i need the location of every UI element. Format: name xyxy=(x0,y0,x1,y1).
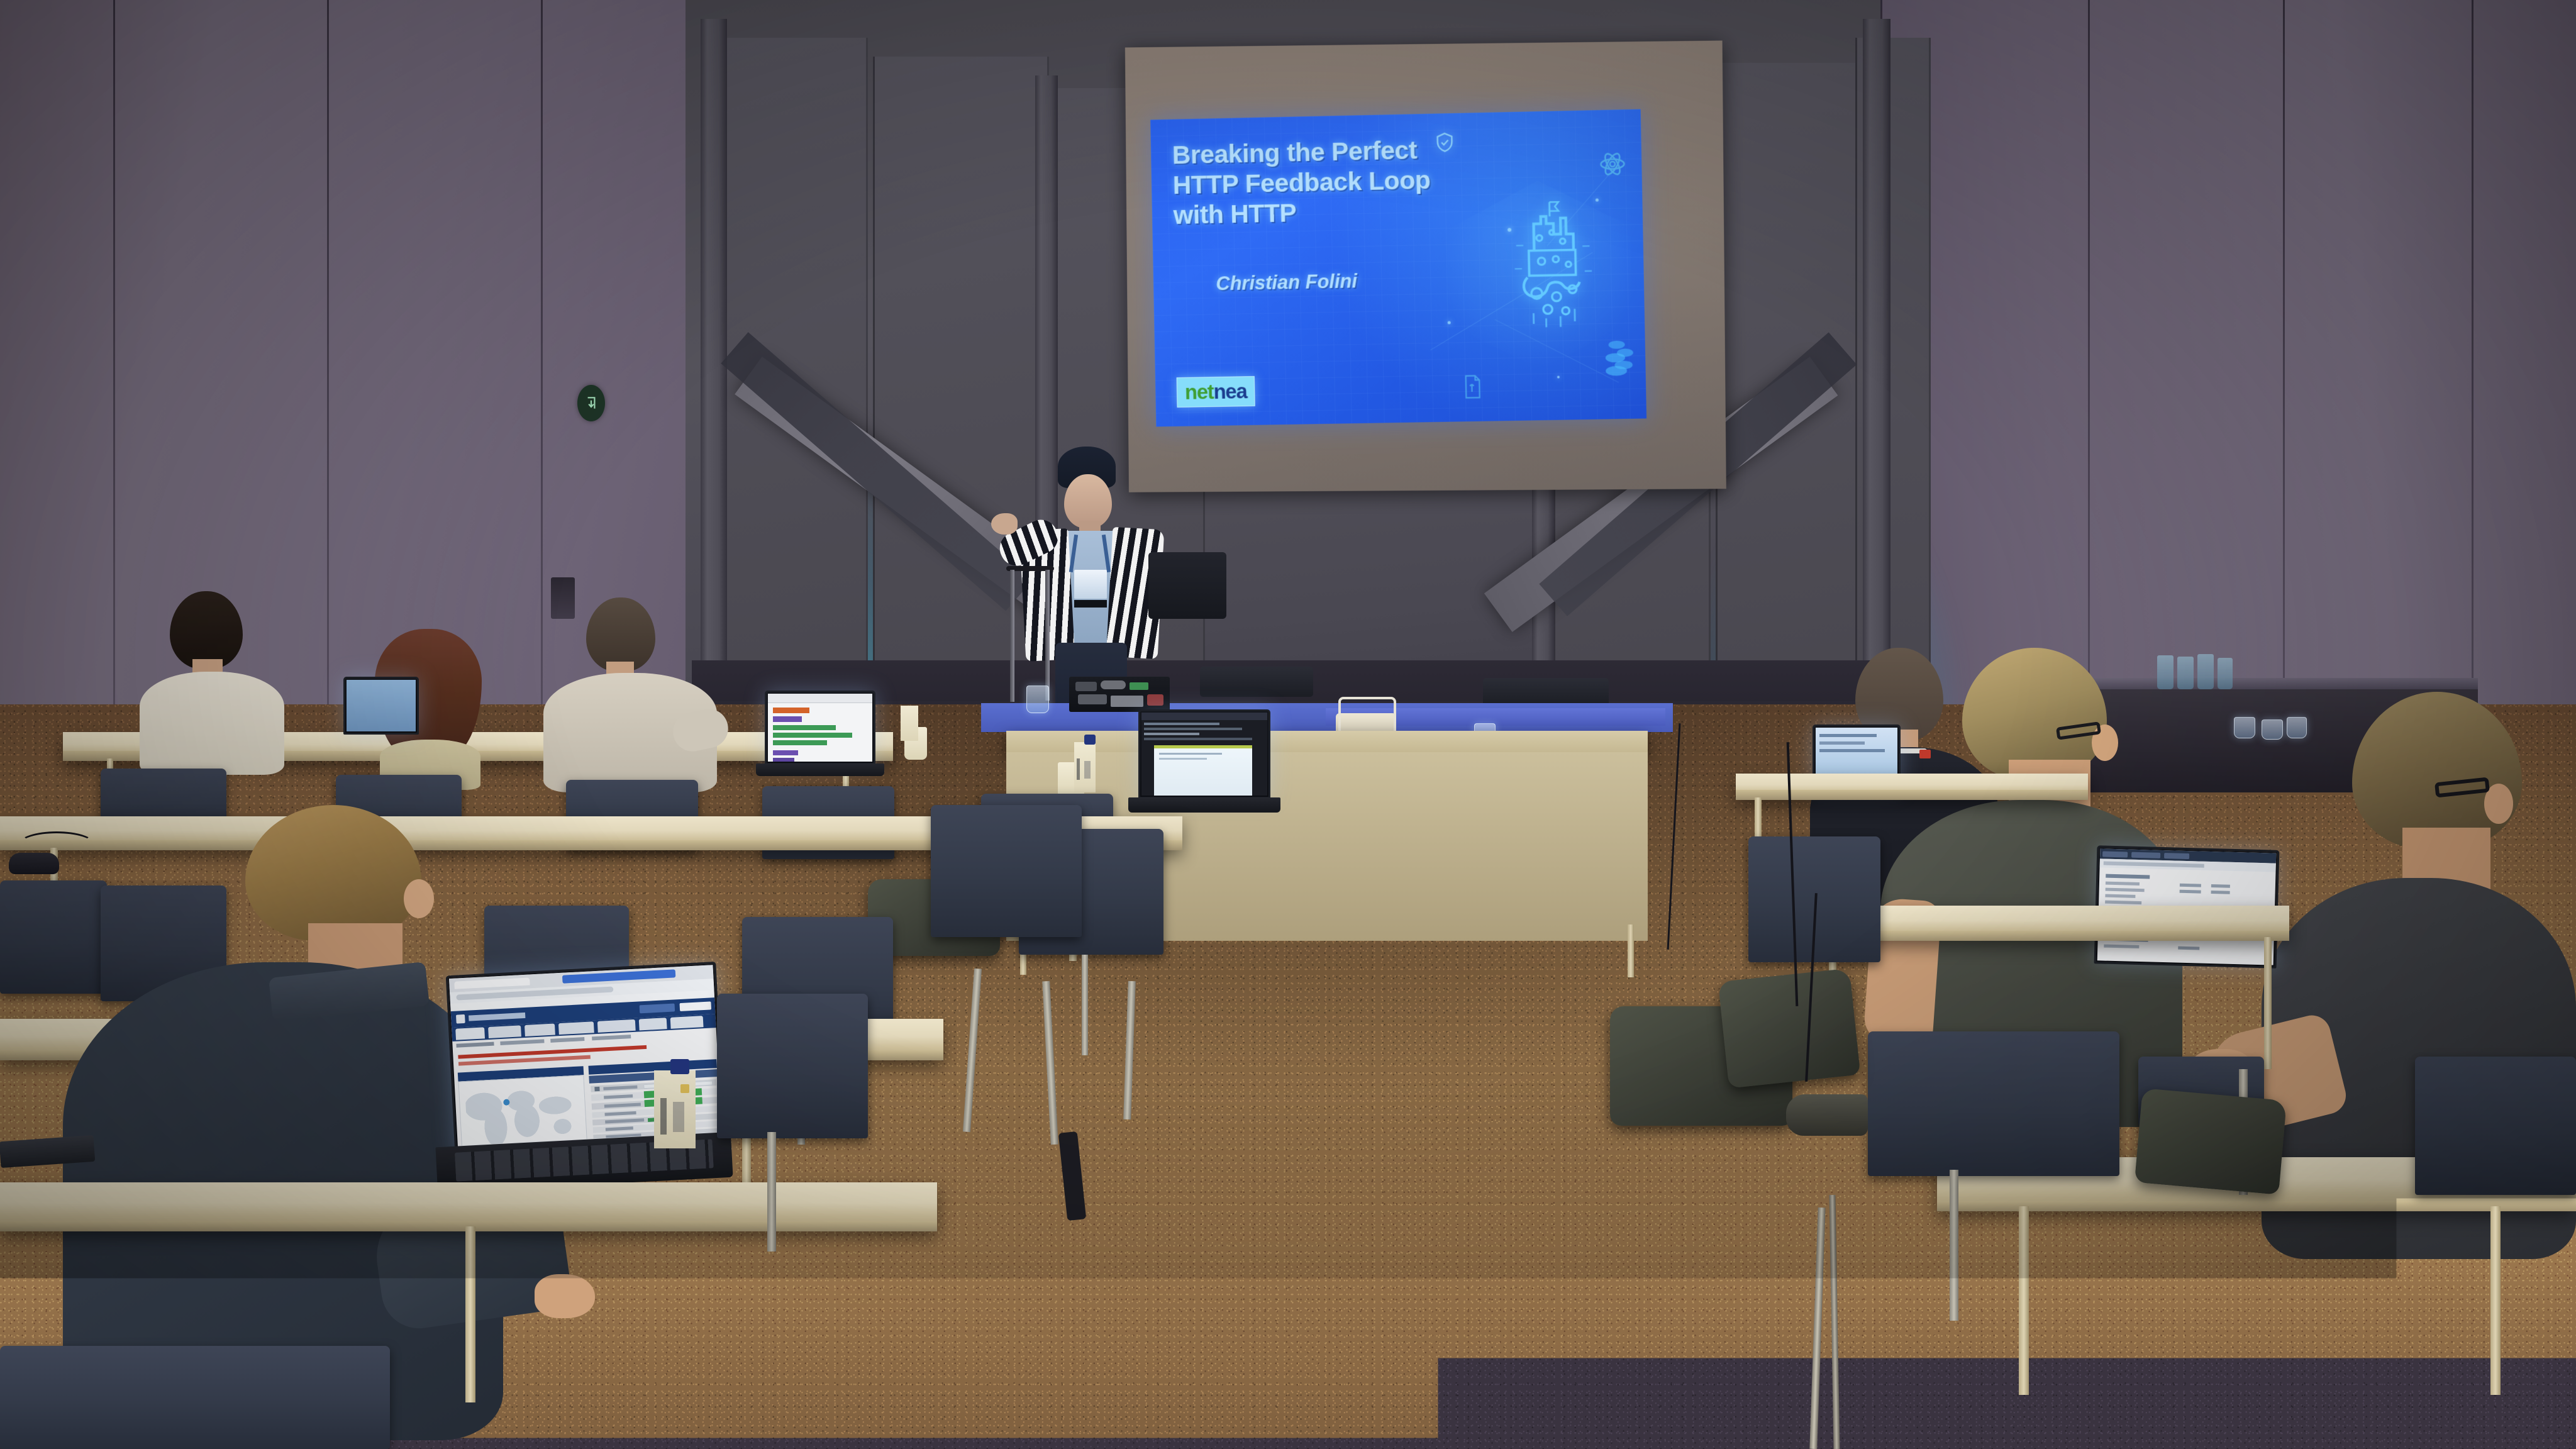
coins-icon xyxy=(1602,338,1637,377)
back-left-laptop-ui xyxy=(768,694,872,762)
water-bottle-4[interactable] xyxy=(2218,658,2233,689)
table-right-mid-leg-2 xyxy=(2264,937,2272,1069)
foreground-shadow xyxy=(0,1289,2576,1449)
chair-front-left-2[interactable] xyxy=(931,805,1082,937)
atom-icon xyxy=(1598,150,1626,178)
slide-title: Breaking the Perfect HTTP Feedback Loop … xyxy=(1172,134,1474,231)
stage-front-table xyxy=(1006,731,1648,753)
attendee-4-ear xyxy=(404,879,434,918)
back-left-laptop-screen[interactable] xyxy=(765,691,875,765)
logo-net-text: net xyxy=(1185,380,1214,404)
laptop-sticker-6 xyxy=(1147,694,1163,706)
laptop-sticker-4 xyxy=(1078,694,1107,704)
stage-table-leg-right xyxy=(1628,924,1634,977)
back-left-laptop-keyboard[interactable] xyxy=(756,763,884,776)
table-right-mid xyxy=(1811,906,2289,941)
logo-nea-text: nea xyxy=(1213,379,1247,403)
stool-leg-left xyxy=(1010,570,1014,702)
presenter-sticker-laptop[interactable] xyxy=(1069,677,1170,712)
chair-right-3[interactable] xyxy=(2415,1057,2576,1195)
backpack-floor-right-2[interactable] xyxy=(1718,968,1861,1088)
table-front-bottom-left xyxy=(0,1182,937,1231)
presenter-laptop-ui xyxy=(1141,713,1267,796)
attendee-left-white-tshirt xyxy=(132,591,296,774)
support-column-right xyxy=(1863,19,1890,711)
presentation-slide: Breaking the Perfect HTTP Feedback Loop … xyxy=(1150,109,1646,427)
shield-check-icon xyxy=(1434,130,1456,155)
stage-chair-2[interactable] xyxy=(1200,667,1313,697)
slide-title-line-3: with HTTP xyxy=(1173,194,1475,231)
conference-room-photo: Breaking the Perfect HTTP Feedback Loop … xyxy=(0,0,2576,1449)
attendee-7-hair xyxy=(2352,692,2522,849)
netnea-logo: netnea xyxy=(1177,376,1255,408)
chair-right-2[interactable] xyxy=(1868,1031,2119,1176)
stage-chair-1[interactable] xyxy=(1148,552,1226,619)
stool-leg-right xyxy=(1045,570,1050,701)
exit-door-icon xyxy=(577,385,605,421)
attendee-1-torso xyxy=(140,672,284,775)
slide-title-line-2: HTTP Feedback Loop xyxy=(1172,164,1474,201)
attendee-left-grey-sweater xyxy=(541,597,723,799)
laptop-sticker-2 xyxy=(1101,680,1126,689)
speaker-badge-strip xyxy=(1074,600,1107,608)
carton-cap xyxy=(1084,735,1096,745)
speaker-badge xyxy=(1074,570,1107,599)
stage-water-glass[interactable] xyxy=(1026,686,1049,713)
presenter-laptop-keyboard[interactable] xyxy=(1128,797,1280,813)
backpack-front-right[interactable] xyxy=(2135,1088,2287,1194)
chair-front-left-1-leg xyxy=(767,1132,776,1252)
chair-mid-5-leg xyxy=(1082,955,1088,1055)
shoe-right xyxy=(1786,1094,1868,1136)
milk-carton[interactable] xyxy=(1074,742,1096,792)
milk-carton-front[interactable] xyxy=(654,1070,696,1148)
attendee-1-head xyxy=(170,591,243,669)
attendee-3-head xyxy=(586,597,655,672)
speaker-hand xyxy=(991,513,1018,535)
attendee-6-hair xyxy=(1962,648,2107,779)
chair-front-left-1[interactable] xyxy=(717,994,868,1138)
document-icon xyxy=(1462,374,1483,401)
world-map-graphic xyxy=(465,1085,580,1146)
laptop-sticker-3 xyxy=(1130,682,1148,690)
slide-author: Christian Folini xyxy=(1216,270,1357,295)
attendee-4-hair xyxy=(245,805,421,941)
milk-carton-back-left[interactable] xyxy=(901,706,918,741)
attendee-tablet-screen[interactable] xyxy=(343,677,419,735)
laptop-sticker-1 xyxy=(1075,682,1097,691)
laptop-sticker-5 xyxy=(1111,696,1143,707)
milk-carton-front-cap xyxy=(670,1059,689,1074)
castle-circuit-icon xyxy=(1496,193,1606,334)
presenter-laptop-screen[interactable] xyxy=(1138,709,1270,799)
